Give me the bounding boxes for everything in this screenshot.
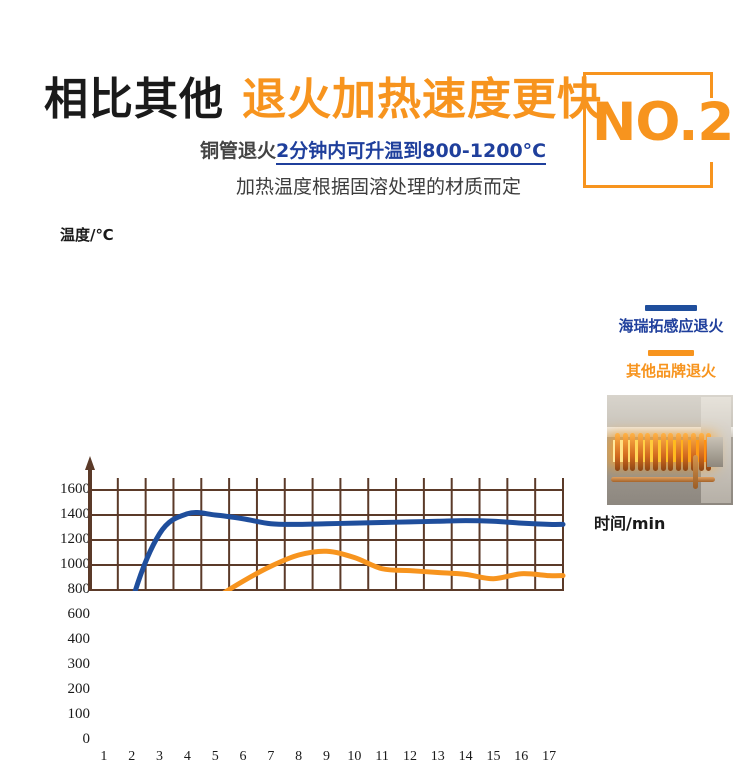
x-tick-label: 17 — [536, 749, 562, 765]
x-tick-label: 1 — [91, 749, 117, 765]
x-tick-label: 4 — [174, 749, 200, 765]
photo-copper-tube — [611, 477, 715, 482]
x-tick-label: 8 — [286, 749, 312, 765]
induction-heating-photo — [607, 395, 733, 505]
photo-coil-turn — [683, 433, 688, 471]
subtitle-line-1: 铜管退火2分钟内可升温到800-1200°C — [200, 136, 546, 163]
badge-border-bottom — [583, 185, 713, 188]
badge-border-top — [583, 72, 713, 75]
photo-coil-turn — [661, 433, 666, 471]
photo-coil-turn — [638, 433, 643, 471]
photo-copper-tube-riser — [693, 455, 698, 489]
y-tick-label: 100 — [38, 707, 90, 722]
x-tick-label: 15 — [480, 749, 506, 765]
subtitle-prefix: 铜管退火 — [200, 140, 276, 162]
x-tick-label: 13 — [425, 749, 451, 765]
photo-coil-turn — [623, 433, 628, 471]
badge-border-right-bottom — [710, 162, 713, 188]
chart-container: 温度/℃ 时间/min 0100200300400600800100012001… — [0, 210, 750, 591]
photo-coil-turn — [699, 433, 704, 471]
photo-coil-turn — [676, 433, 681, 471]
y-tick-label: 300 — [38, 657, 90, 672]
y-tick-label: 0 — [38, 732, 90, 747]
x-tick-label: 9 — [314, 749, 340, 765]
photo-coil-turn — [645, 433, 650, 471]
x-tick-label: 11 — [369, 749, 395, 765]
chart-legend: 海瑞拓感应退火 其他品牌退火 — [596, 305, 746, 395]
subtitle-highlight: 2分钟内可升温到800-1200°C — [276, 140, 546, 165]
x-tick-label: 10 — [341, 749, 367, 765]
photo-coil-turn — [668, 433, 673, 471]
x-tick-label: 3 — [147, 749, 173, 765]
legend-item-secondary: 其他品牌退火 — [596, 350, 746, 381]
y-tick-label: 200 — [38, 682, 90, 697]
x-tick-label: 16 — [508, 749, 534, 765]
badge-border-left — [583, 72, 586, 188]
x-tick-label: 14 — [453, 749, 479, 765]
x-tick-label: 6 — [230, 749, 256, 765]
header-block: 相比其他 退火加热速度更快 铜管退火2分钟内可升温到800-1200°C 加热温… — [0, 0, 750, 210]
y-tick-label: 400 — [38, 632, 90, 647]
photo-coil-turn — [615, 433, 620, 471]
legend-swatch-secondary — [648, 350, 694, 356]
legend-swatch-primary — [645, 305, 697, 311]
subtitle-line-2: 加热温度根据固溶处理的材质而定 — [236, 172, 521, 199]
photo-coil-turn — [630, 433, 635, 471]
infographic-page: 相比其他 退火加热速度更快 铜管退火2分钟内可升温到800-1200°C 加热温… — [0, 0, 750, 591]
x-tick-label: 12 — [397, 749, 423, 765]
headline-black: 相比其他 — [44, 63, 224, 127]
x-tick-label: 2 — [119, 749, 145, 765]
legend-label-primary: 海瑞拓感应退火 — [596, 315, 746, 336]
photo-fixture-block — [707, 437, 723, 467]
legend-label-secondary: 其他品牌退火 — [596, 360, 746, 381]
legend-item-primary: 海瑞拓感应退火 — [596, 305, 746, 336]
rank-badge-label: NO.2 — [592, 96, 742, 149]
headline-orange: 退火加热速度更快 — [242, 63, 602, 127]
photo-coil-turn — [653, 433, 658, 471]
x-tick-label: 5 — [202, 749, 228, 765]
y-tick-label: 600 — [38, 607, 90, 622]
x-tick-label: 7 — [258, 749, 284, 765]
headline: 相比其他 退火加热速度更快 — [44, 63, 602, 127]
